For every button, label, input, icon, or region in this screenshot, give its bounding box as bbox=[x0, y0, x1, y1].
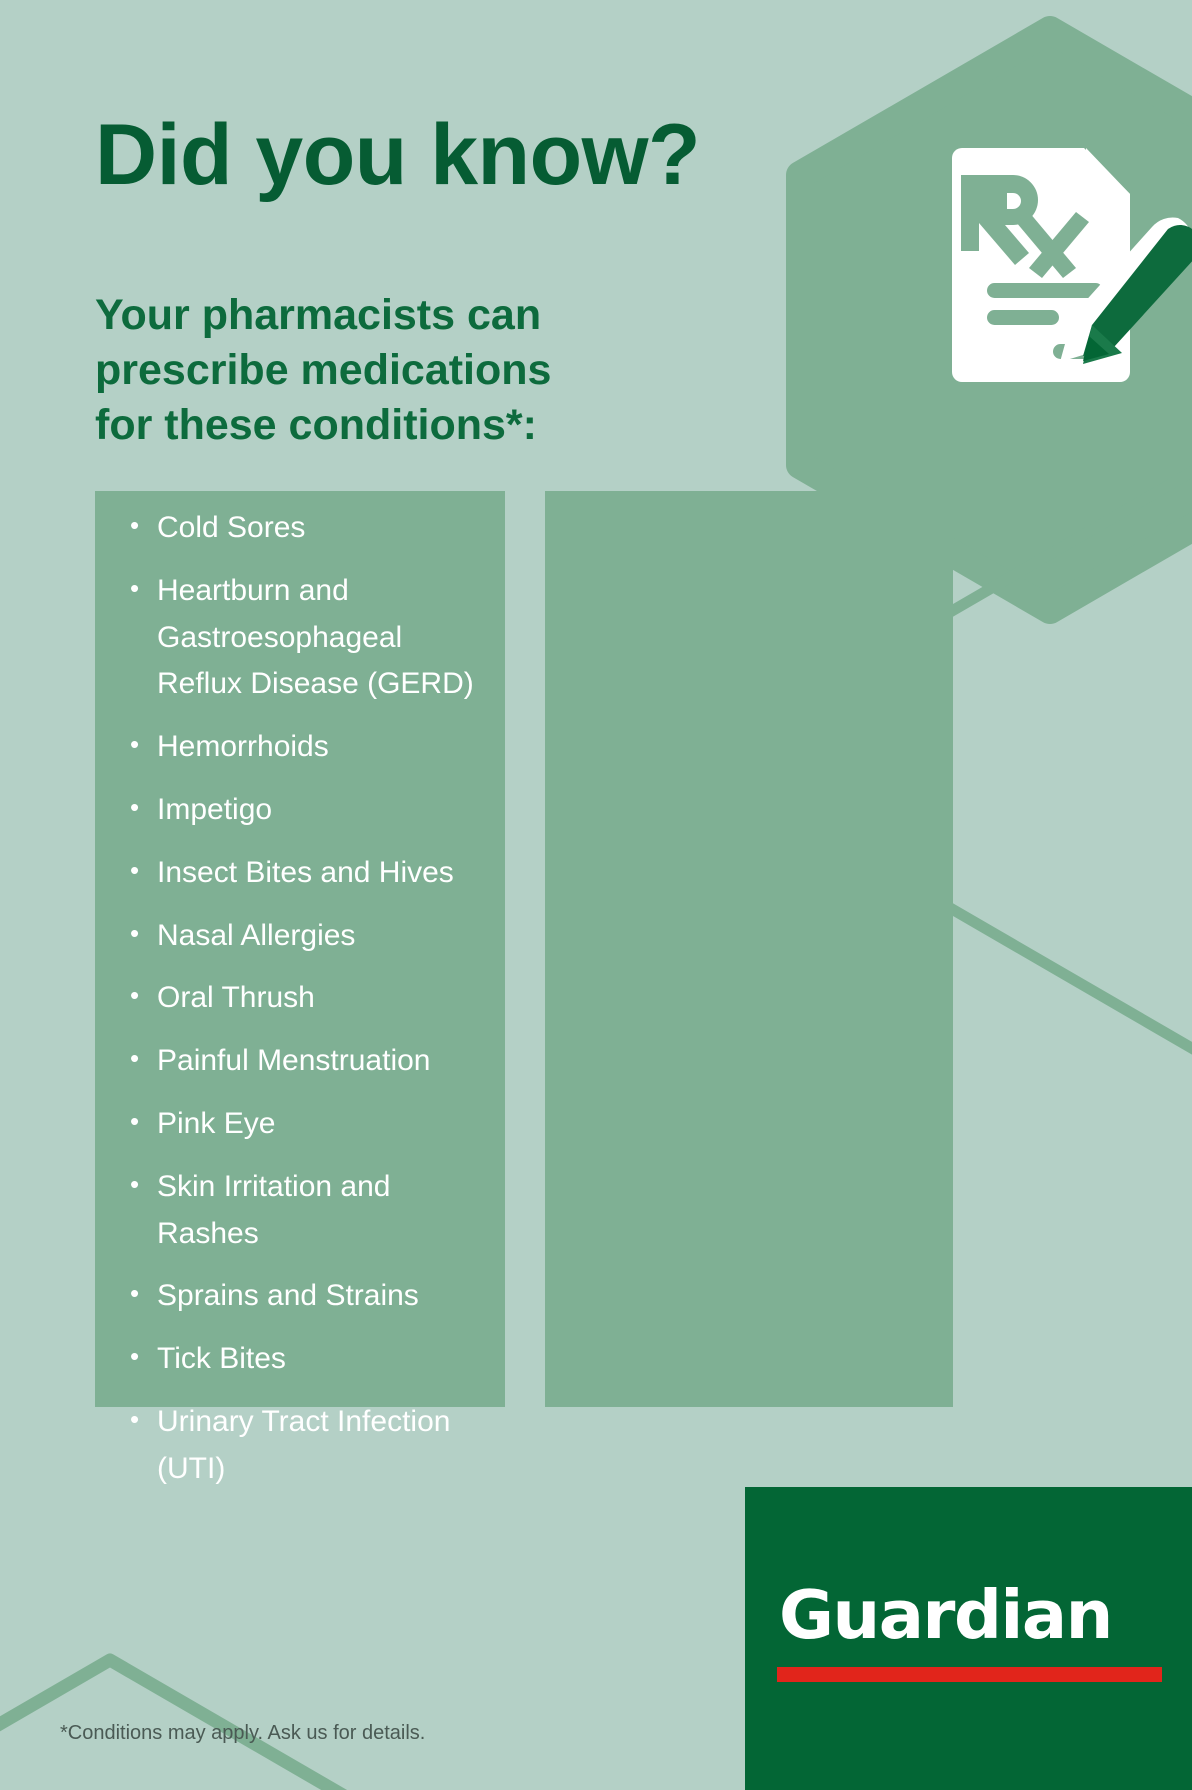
list-item: Insect Bites and Hives bbox=[112, 850, 492, 897]
list-item: Cold Sores bbox=[112, 505, 492, 552]
list-item: Pink Eye bbox=[112, 1101, 492, 1148]
list-item: Oral Thrush bbox=[112, 975, 492, 1022]
list-item: Tick Bites bbox=[112, 1336, 492, 1383]
list-item: Nasal Allergies bbox=[112, 913, 492, 960]
conditions-panel-right bbox=[545, 491, 953, 1407]
subheading-line-1: Your pharmacists can bbox=[95, 288, 655, 343]
guardian-logo: Guardian bbox=[745, 1487, 1192, 1790]
subheading: Your pharmacists can prescribe medicatio… bbox=[95, 288, 655, 453]
list-item: Urinary Tract Infection (UTI) bbox=[112, 1399, 492, 1493]
logo-wordmark: Guardian bbox=[779, 1580, 1159, 1650]
page-title: Did you know? bbox=[95, 112, 700, 198]
list-item: Sprains and Strains bbox=[112, 1273, 492, 1320]
subheading-line-3: for these conditions*: bbox=[95, 398, 655, 453]
conditions-list: Cold Sores Heartburn and Gastroesophagea… bbox=[112, 505, 492, 1509]
list-item: Hemorrhoids bbox=[112, 724, 492, 771]
logo-red-rule bbox=[777, 1667, 1162, 1682]
list-item: Heartburn and Gastroesophageal Reflux Di… bbox=[112, 568, 492, 708]
list-item: Impetigo bbox=[112, 787, 492, 834]
document-fold bbox=[1086, 148, 1130, 194]
document-line-2 bbox=[987, 310, 1059, 325]
poster-root: Did you know? Your pharmacists can presc… bbox=[0, 0, 1192, 1790]
hexagon-outline-right bbox=[945, 470, 1192, 1050]
list-item: Painful Menstruation bbox=[112, 1038, 492, 1085]
footnote-disclaimer: *Conditions may apply. Ask us for detail… bbox=[60, 1722, 425, 1745]
list-item: Skin Irritation and Rashes bbox=[112, 1164, 492, 1258]
subheading-line-2: prescribe medications bbox=[95, 343, 655, 398]
prescription-document-with-pen-icon bbox=[740, 20, 1192, 420]
document-line-1 bbox=[987, 283, 1103, 298]
